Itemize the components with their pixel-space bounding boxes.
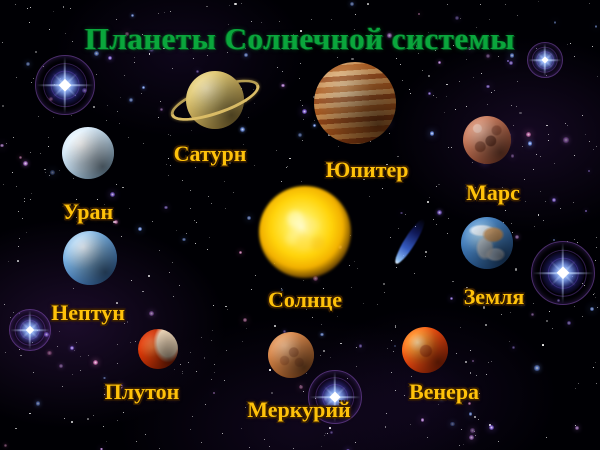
- planet-label-9: Венера: [409, 379, 479, 405]
- flare-star-right: [532, 242, 594, 304]
- planet-4-body: [314, 62, 396, 144]
- planet-2-body: [63, 231, 117, 285]
- planet-1-body: [62, 127, 114, 179]
- planet-label-1: Уран: [63, 199, 113, 225]
- planet-label-4: Юпитер: [326, 157, 409, 183]
- comet-icon: [391, 217, 428, 267]
- sun-body: [259, 186, 351, 278]
- planet-label-8: Меркурий: [247, 397, 350, 423]
- planet-5-body: [463, 116, 511, 164]
- planet-label-5: Марс: [466, 180, 520, 206]
- planet-9-body: [402, 327, 448, 373]
- flare-star-top-left: [36, 56, 94, 114]
- planet-6-body: [461, 217, 513, 269]
- sun-texture: [272, 199, 338, 265]
- planet-label-3: Сатурн: [174, 141, 247, 167]
- solar-system-poster: Планеты Солнечной системы УранНептунСату…: [0, 0, 600, 450]
- sun-label: Солнце: [268, 287, 342, 313]
- planet-label-6: Земля: [464, 284, 525, 310]
- flare-star-bottom-left: [10, 310, 50, 350]
- page-title: Планеты Солнечной системы: [0, 21, 600, 57]
- planet-8-body: [268, 332, 314, 378]
- planet-7-body: [138, 329, 178, 369]
- planet-label-2: Нептун: [51, 300, 125, 326]
- planet-label-7: Плутон: [105, 379, 180, 405]
